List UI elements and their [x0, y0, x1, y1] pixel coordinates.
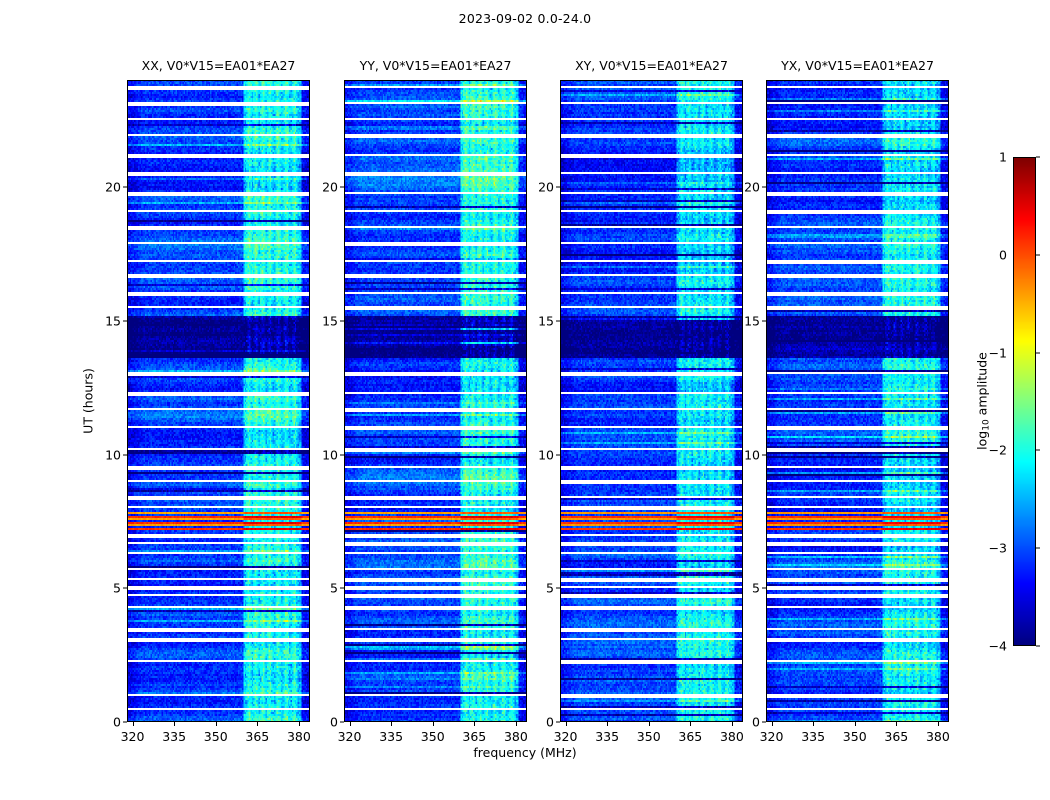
waterfall-image-yy — [344, 80, 527, 722]
x-tick-label: 380 — [287, 729, 311, 744]
panel-xx[interactable]: XX, V0*V15=EA01*EA27 3203353503653800510… — [127, 80, 310, 722]
y-tick-mark — [762, 320, 766, 321]
colorbar-tick-label: −2 — [989, 443, 1007, 458]
y-tick-mark — [556, 722, 560, 723]
y-tick-mark — [340, 187, 344, 188]
x-tick-label: 380 — [926, 729, 950, 744]
waterfall-image-xx — [127, 80, 310, 722]
x-tick-label: 365 — [245, 729, 269, 744]
y-tick-mark — [762, 454, 766, 455]
y-tick-label: 10 — [744, 447, 760, 462]
colorbar-tick-mark — [1036, 450, 1040, 451]
colorbar-frame — [1013, 157, 1036, 646]
colorbar-tick-mark — [1036, 352, 1040, 353]
y-tick-mark — [123, 320, 127, 321]
x-tick-label: 335 — [379, 729, 403, 744]
y-tick-label: 0 — [113, 715, 121, 730]
colorbar-tick-mark — [1036, 157, 1040, 158]
panel-yy[interactable]: YY, V0*V15=EA01*EA27 3203353503653800510… — [344, 80, 527, 722]
y-tick-label: 0 — [546, 715, 554, 730]
y-tick-mark — [762, 588, 766, 589]
x-tick-mark — [732, 722, 733, 726]
colorbar-tick-mark — [1036, 548, 1040, 549]
y-tick-label: 0 — [330, 715, 338, 730]
x-tick-mark — [133, 722, 134, 726]
y-tick-mark — [556, 588, 560, 589]
x-tick-label: 365 — [678, 729, 702, 744]
x-tick-label: 350 — [421, 729, 445, 744]
y-tick-mark — [340, 588, 344, 589]
y-tick-mark — [123, 722, 127, 723]
y-tick-label: 20 — [538, 180, 554, 195]
y-tick-mark — [123, 187, 127, 188]
x-tick-label: 335 — [162, 729, 186, 744]
x-tick-mark — [649, 722, 650, 726]
x-tick-mark — [813, 722, 814, 726]
x-tick-mark — [855, 722, 856, 726]
x-tick-mark — [896, 722, 897, 726]
x-tick-mark — [566, 722, 567, 726]
y-tick-mark — [123, 454, 127, 455]
x-tick-label: 350 — [843, 729, 867, 744]
x-tick-mark — [938, 722, 939, 726]
x-tick-mark — [474, 722, 475, 726]
x-tick-mark — [174, 722, 175, 726]
y-tick-mark — [340, 454, 344, 455]
y-tick-label: 20 — [744, 180, 760, 195]
y-tick-label: 5 — [752, 581, 760, 596]
y-tick-mark — [340, 722, 344, 723]
x-tick-mark — [433, 722, 434, 726]
colorbar-tick-mark — [1036, 646, 1040, 647]
figure-canvas: 2023-09-02 0.0-24.0 UT (hours) frequency… — [0, 0, 1050, 800]
x-tick-label: 320 — [554, 729, 578, 744]
y-tick-mark — [556, 320, 560, 321]
waterfall-image-xy — [560, 80, 743, 722]
x-tick-label: 365 — [884, 729, 908, 744]
colorbar-tick-label: −1 — [989, 345, 1007, 360]
colorbar[interactable]: 10−1−2−3−4 — [1013, 157, 1036, 646]
x-tick-label: 365 — [462, 729, 486, 744]
y-tick-label: 15 — [538, 313, 554, 328]
colorbar-tick-label: 1 — [999, 150, 1007, 165]
panel-xy[interactable]: XY, V0*V15=EA01*EA27 3203353503653800510… — [560, 80, 743, 722]
x-tick-label: 320 — [760, 729, 784, 744]
panel-title-yy: YY, V0*V15=EA01*EA27 — [360, 58, 512, 73]
panel-yx[interactable]: YX, V0*V15=EA01*EA27 3203353503653800510… — [766, 80, 949, 722]
y-tick-mark — [556, 454, 560, 455]
x-tick-mark — [772, 722, 773, 726]
x-tick-mark — [607, 722, 608, 726]
y-tick-label: 5 — [546, 581, 554, 596]
x-tick-mark — [516, 722, 517, 726]
x-tick-label: 380 — [504, 729, 528, 744]
colorbar-label-sub: 10 — [982, 419, 992, 430]
y-tick-label: 10 — [105, 447, 121, 462]
y-tick-label: 15 — [322, 313, 338, 328]
colorbar-tick-mark — [1036, 254, 1040, 255]
panel-title-yx: YX, V0*V15=EA01*EA27 — [781, 58, 934, 73]
waterfall-image-yx — [766, 80, 949, 722]
y-axis-label: UT (hours) — [81, 368, 96, 434]
colorbar-label: log10 amplitude — [975, 352, 990, 450]
panel-title-xx: XX, V0*V15=EA01*EA27 — [142, 58, 296, 73]
y-tick-label: 20 — [322, 180, 338, 195]
x-tick-mark — [391, 722, 392, 726]
colorbar-tick-label: −4 — [989, 639, 1007, 654]
x-tick-mark — [257, 722, 258, 726]
y-tick-label: 0 — [752, 715, 760, 730]
x-tick-label: 320 — [338, 729, 362, 744]
x-tick-label: 350 — [637, 729, 661, 744]
colorbar-label-tail: amplitude — [975, 352, 990, 419]
y-tick-label: 20 — [105, 180, 121, 195]
y-tick-label: 10 — [322, 447, 338, 462]
y-tick-mark — [762, 187, 766, 188]
y-tick-label: 15 — [744, 313, 760, 328]
x-tick-mark — [216, 722, 217, 726]
x-tick-mark — [299, 722, 300, 726]
x-tick-label: 335 — [595, 729, 619, 744]
x-tick-label: 320 — [121, 729, 145, 744]
y-tick-mark — [556, 187, 560, 188]
y-tick-mark — [340, 320, 344, 321]
x-axis-label: frequency (MHz) — [0, 745, 1050, 760]
figure-suptitle: 2023-09-02 0.0-24.0 — [0, 11, 1050, 26]
y-tick-label: 5 — [330, 581, 338, 596]
colorbar-tick-label: −3 — [989, 541, 1007, 556]
y-tick-mark — [762, 722, 766, 723]
x-tick-label: 350 — [204, 729, 228, 744]
x-tick-mark — [350, 722, 351, 726]
y-tick-label: 15 — [105, 313, 121, 328]
x-tick-label: 380 — [720, 729, 744, 744]
y-tick-label: 10 — [538, 447, 554, 462]
x-tick-label: 335 — [801, 729, 825, 744]
y-tick-label: 5 — [113, 581, 121, 596]
colorbar-label-main: log — [975, 431, 990, 450]
x-tick-mark — [690, 722, 691, 726]
panel-title-xy: XY, V0*V15=EA01*EA27 — [575, 58, 728, 73]
y-tick-mark — [123, 588, 127, 589]
colorbar-tick-label: 0 — [999, 247, 1007, 262]
